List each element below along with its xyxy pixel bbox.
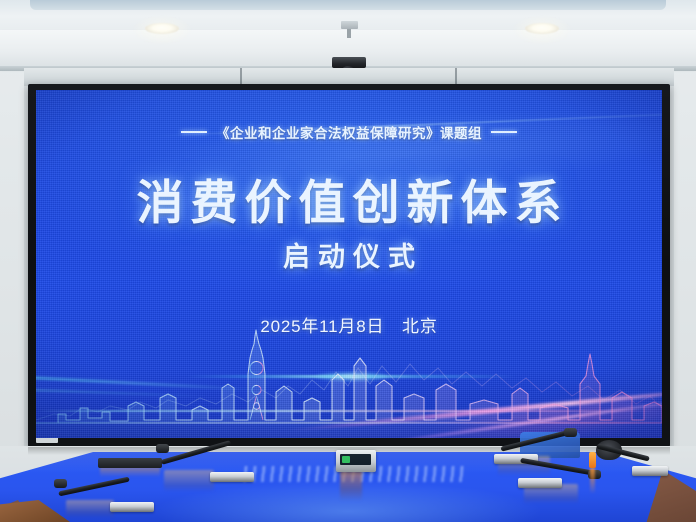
ceiling-recess	[30, 0, 666, 10]
orange-object-reflection	[590, 468, 595, 494]
kicker-text: 《企业和企业家合法权益保障研究》课题组	[216, 126, 482, 141]
dark-object-left	[98, 458, 162, 468]
kicker-rule-right	[491, 131, 517, 133]
ceiling-camera-mount	[341, 21, 358, 29]
orange-object	[589, 452, 596, 468]
mic-1-reflection	[164, 470, 214, 492]
dark-object-left-reflection	[100, 467, 160, 477]
kicker-rule-left	[181, 131, 207, 133]
mic-1-base	[210, 472, 254, 482]
slide-date-location: 2025年11月8日 北京	[36, 312, 662, 337]
control-panel-reflection	[340, 471, 362, 501]
downlight-right-icon	[525, 23, 559, 34]
slide-kicker: 《企业和企业家合法权益保障研究》课题组	[36, 122, 662, 142]
mic-2-base	[110, 502, 154, 512]
skyline-waterline	[36, 410, 662, 412]
mic-2-reflection	[66, 500, 114, 518]
mic-3-head	[564, 428, 577, 437]
table-control-panel[interactable]	[336, 450, 376, 472]
led-video-wall[interactable]: 《企业和企业家合法权益保障研究》课题组 消费价值创新体系 启动仪式 2025年1…	[36, 90, 662, 438]
ceiling-camera-stem	[347, 29, 351, 38]
mic-5-base	[632, 466, 668, 476]
slide-main-title: 消费价值创新体系	[36, 164, 662, 233]
mic-2-head	[54, 479, 67, 488]
city-skyline-icon	[36, 328, 662, 438]
conference-room-scene: 《企业和企业家合法权益保障研究》课题组 消费价值创新体系 启动仪式 2025年1…	[0, 0, 696, 522]
control-panel-display	[340, 454, 371, 465]
downlight-left-icon	[145, 23, 179, 34]
mic-4-base	[518, 478, 562, 488]
slide-sub-title: 启动仪式	[36, 235, 662, 274]
mic-1-head	[156, 444, 169, 453]
